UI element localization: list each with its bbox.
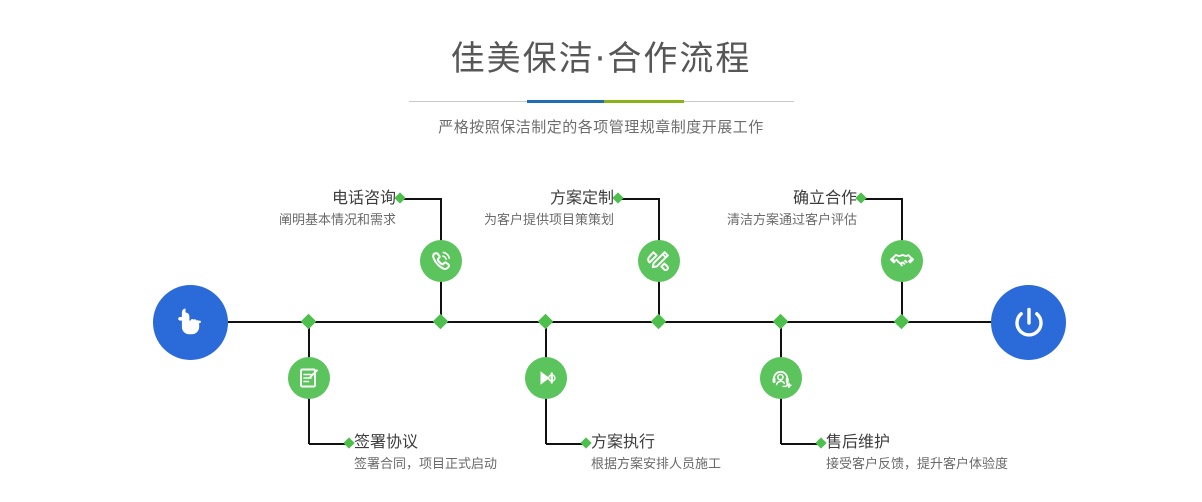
- step-3-icon-badge[interactable]: [638, 240, 680, 282]
- step-1-title: 电话咨询: [210, 188, 396, 208]
- step-3-label: 方案定制 为客户提供项目策策划: [418, 188, 614, 230]
- step-2-label-dot: [343, 437, 354, 448]
- step-5-description: 清洁方案通过客户评估: [665, 211, 857, 230]
- play-execute-icon: [534, 366, 558, 390]
- step-4-icon-badge[interactable]: [525, 357, 567, 399]
- step-5-label-dot: [855, 192, 866, 203]
- step-5-icon-badge[interactable]: [881, 240, 923, 282]
- step-6-title: 售后维护: [826, 432, 1076, 452]
- document-sign-icon: [297, 366, 321, 390]
- step-6-label: 售后维护 接受客户反馈，提升客户体验度: [826, 432, 1076, 474]
- process-flow-infographic: 佳美保洁·合作流程 严格按照保洁制定的各项管理规章制度开展工作: [0, 0, 1202, 502]
- flow-start-marker: [153, 285, 228, 360]
- step-3-axis-diamond: [651, 314, 667, 330]
- pencil-ruler-icon: [646, 248, 672, 274]
- step-5-connector: [861, 198, 902, 200]
- step-4-description: 根据方案安排人员施工: [591, 455, 821, 474]
- step-3-label-dot: [612, 192, 623, 203]
- step-6-description: 接受客户反馈，提升客户体验度: [826, 455, 1076, 474]
- power-button-icon: [1008, 302, 1050, 344]
- flow-end-marker: [991, 285, 1066, 360]
- step-4-title: 方案执行: [591, 432, 821, 452]
- handshake-icon: [889, 248, 915, 274]
- step-3-title: 方案定制: [418, 188, 614, 208]
- step-4-axis-diamond: [538, 314, 554, 330]
- step-2-icon-badge[interactable]: [288, 357, 330, 399]
- step-1-description: 阐明基本情况和需求: [210, 211, 396, 230]
- step-2-description: 签署合同，项目正式启动: [354, 455, 584, 474]
- step-1-axis-diamond: [433, 314, 449, 330]
- step-1-label-dot: [394, 192, 405, 203]
- step-3-connector: [618, 198, 659, 200]
- step-5-title: 确立合作: [665, 188, 857, 208]
- step-1-icon-badge[interactable]: [420, 240, 462, 282]
- pointing-hand-icon: [171, 303, 211, 343]
- step-6-axis-diamond: [773, 314, 789, 330]
- timeline: 电话咨询 阐明基本情况和需求: [0, 0, 1202, 502]
- step-5-label: 确立合作 清洁方案通过客户评估: [665, 188, 857, 230]
- step-4-label: 方案执行 根据方案安排人员施工: [591, 432, 821, 474]
- step-1-label: 电话咨询 阐明基本情况和需求: [210, 188, 396, 230]
- customer-support-icon: [769, 366, 793, 390]
- step-2-title: 签署协议: [354, 432, 584, 452]
- phone-call-icon: [428, 248, 454, 274]
- step-3-description: 为客户提供项目策策划: [418, 211, 614, 230]
- step-2-axis-diamond: [301, 314, 317, 330]
- step-5-axis-diamond: [894, 314, 910, 330]
- step-6-icon-badge[interactable]: [760, 357, 802, 399]
- step-2-label: 签署协议 签署合同，项目正式启动: [354, 432, 584, 474]
